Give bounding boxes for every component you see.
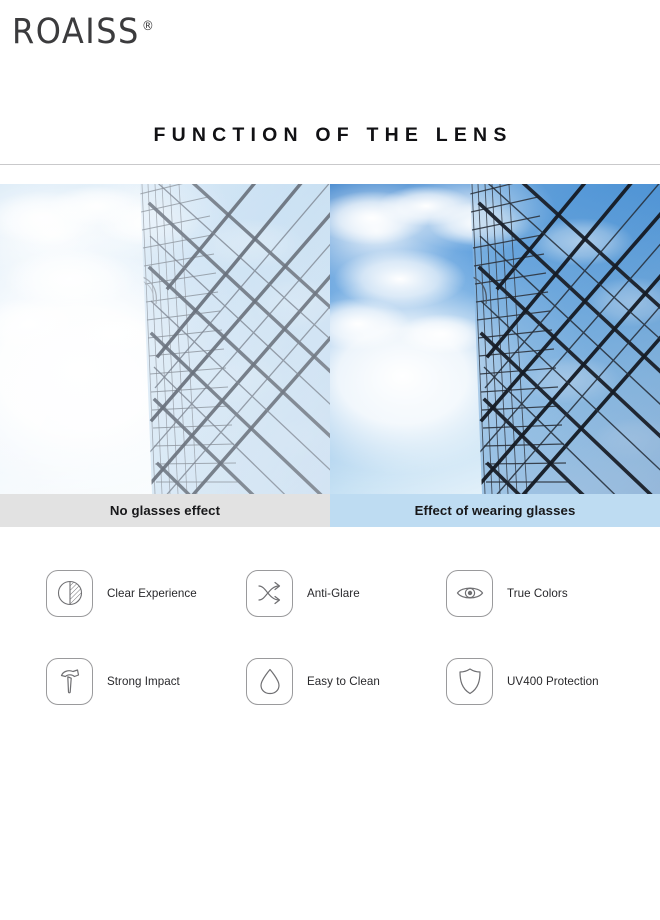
feature-uv400-protection: UV400 Protection [446, 637, 646, 725]
hammer-icon [46, 658, 93, 705]
feature-row-2: Strong Impact Easy to Clean UV400 Protec… [46, 637, 626, 725]
photo-with-glasses [330, 184, 660, 494]
feature-label: Anti-Glare [307, 587, 360, 600]
feature-grid: Clear Experience Anti-Glare [0, 549, 660, 725]
feature-easy-to-clean: Easy to Clean [246, 637, 446, 725]
eye-icon [446, 570, 493, 617]
glare-haze-overlay [0, 184, 330, 494]
brand-header: ROAISS® [0, 0, 660, 62]
crossing-arrows-icon [246, 570, 293, 617]
feature-label: Clear Experience [107, 587, 197, 600]
feature-label: Strong Impact [107, 675, 180, 688]
brand-logo: ROAISS® [12, 14, 154, 49]
shield-icon [446, 658, 493, 705]
comparison-images [0, 184, 660, 494]
feature-label: True Colors [507, 587, 568, 600]
bottom-whitespace [0, 725, 660, 920]
title-divider [0, 164, 660, 165]
section-title-block: FUNCTION OF THE LENS [0, 124, 660, 165]
caption-no-glasses: No glasses effect [0, 494, 330, 527]
product-feature-page: ROAISS® FUNCTION OF THE LENS [0, 0, 660, 900]
caption-with-glasses: Effect of wearing glasses [330, 494, 660, 527]
feature-label: UV400 Protection [507, 675, 599, 688]
feature-label: Easy to Clean [307, 675, 380, 688]
feature-row-1: Clear Experience Anti-Glare [46, 549, 626, 637]
comparison-captions: No glasses effect Effect of wearing glas… [0, 494, 660, 527]
feature-true-colors: True Colors [446, 549, 646, 637]
photo-no-glasses [0, 184, 330, 494]
half-shaded-circle-icon [46, 570, 93, 617]
feature-anti-glare: Anti-Glare [246, 549, 446, 637]
feature-clear-experience: Clear Experience [46, 549, 246, 637]
registered-trademark-icon: ® [142, 19, 154, 34]
brand-logo-text: ROAISS [12, 11, 140, 52]
water-droplet-icon [246, 658, 293, 705]
page-title: FUNCTION OF THE LENS [0, 124, 660, 147]
glass-building-right [330, 184, 660, 494]
feature-strong-impact: Strong Impact [46, 637, 246, 725]
